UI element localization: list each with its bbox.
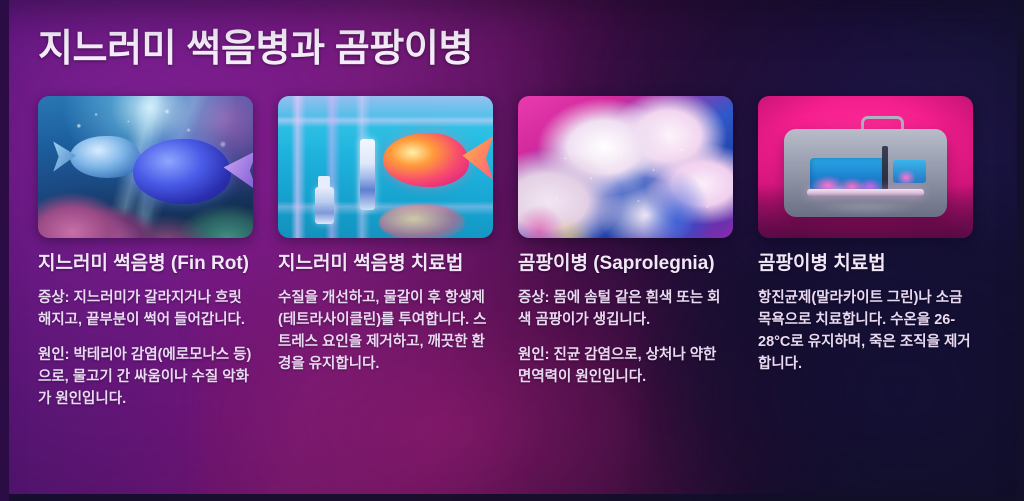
tank-gravel-strip xyxy=(807,189,925,196)
card-heading: 지느러미 썩음병 (Fin Rot) xyxy=(38,252,253,276)
bubbles-layer xyxy=(38,96,253,238)
card-image-aquarium-tank-appliance xyxy=(758,96,973,238)
card-fin-rot: 지느러미 썩음병 (Fin Rot) 증상: 지느러미가 갈라지거나 흐릿해지고… xyxy=(38,96,253,410)
tank-side-window xyxy=(893,160,926,183)
goldfish-reflection xyxy=(379,204,465,238)
card-paragraph-treatment: 수질을 개선하고, 물갈이 후 항생제(테트라사이클린)를 투여합니다. 스트레… xyxy=(278,287,493,375)
card-grid: 지느러미 썩음병 (Fin Rot) 증상: 지느러미가 갈라지거나 흐릿해지고… xyxy=(38,96,988,410)
card-fin-rot-treatment: 지느러미 썩음병 치료법 수질을 개선하고, 물갈이 후 항생제(테트라사이클린… xyxy=(278,96,493,410)
card-heading: 지느러미 썩음병 치료법 xyxy=(278,252,493,276)
tank-main-window xyxy=(810,158,885,193)
card-paragraph-cause: 원인: 진균 감염으로, 상처나 약한 면역력이 원인입니다. xyxy=(518,344,733,388)
fungus-specks-layer xyxy=(518,96,733,238)
medicine-vial-shape xyxy=(315,187,334,224)
card-image-coral-reef-blue-fish xyxy=(38,96,253,238)
tank-divider-post xyxy=(882,146,889,194)
page-title: 지느러미 썩음병과 곰팡이병 xyxy=(38,17,473,72)
slide-root: 지느러미 썩음병과 곰팡이병 지느러미 썩음병 (Fin Rot) 증상: 지느… xyxy=(0,0,1024,501)
card-saprolegnia-treatment: 곰팡이병 치료법 항진균제(말라카이트 그린)나 소금 목욕으로 치료합니다. … xyxy=(758,96,973,410)
card-paragraph-treatment: 항진균제(말라카이트 그린)나 소금 목욕으로 치료합니다. 수온을 26-28… xyxy=(758,287,973,375)
card-heading: 곰팡이병 (Saprolegnia) xyxy=(518,252,733,276)
card-image-white-cotton-fungus xyxy=(518,96,733,238)
card-saprolegnia: 곰팡이병 (Saprolegnia) 증상: 몸에 솜털 같은 흰색 또는 회색… xyxy=(518,96,733,410)
card-paragraph-symptom: 증상: 몸에 솜털 같은 흰색 또는 회색 곰팡이가 생깁니다. xyxy=(518,287,733,331)
goldfish-shape xyxy=(383,133,469,187)
tank-body-shape xyxy=(784,129,947,217)
card-paragraph-cause: 원인: 박테리아 감염(에로모나스 등)으로, 물고기 간 싸움이나 수질 악화… xyxy=(38,344,253,410)
card-heading: 곰팡이병 치료법 xyxy=(758,252,973,276)
dropper-bottle-shape xyxy=(360,139,375,210)
card-image-aquarium-treatment-goldfish xyxy=(278,96,493,238)
card-paragraph-symptom: 증상: 지느러미가 갈라지거나 흐릿해지고, 끝부분이 썩어 들어갑니다. xyxy=(38,287,253,331)
tank-reflection xyxy=(813,204,918,215)
